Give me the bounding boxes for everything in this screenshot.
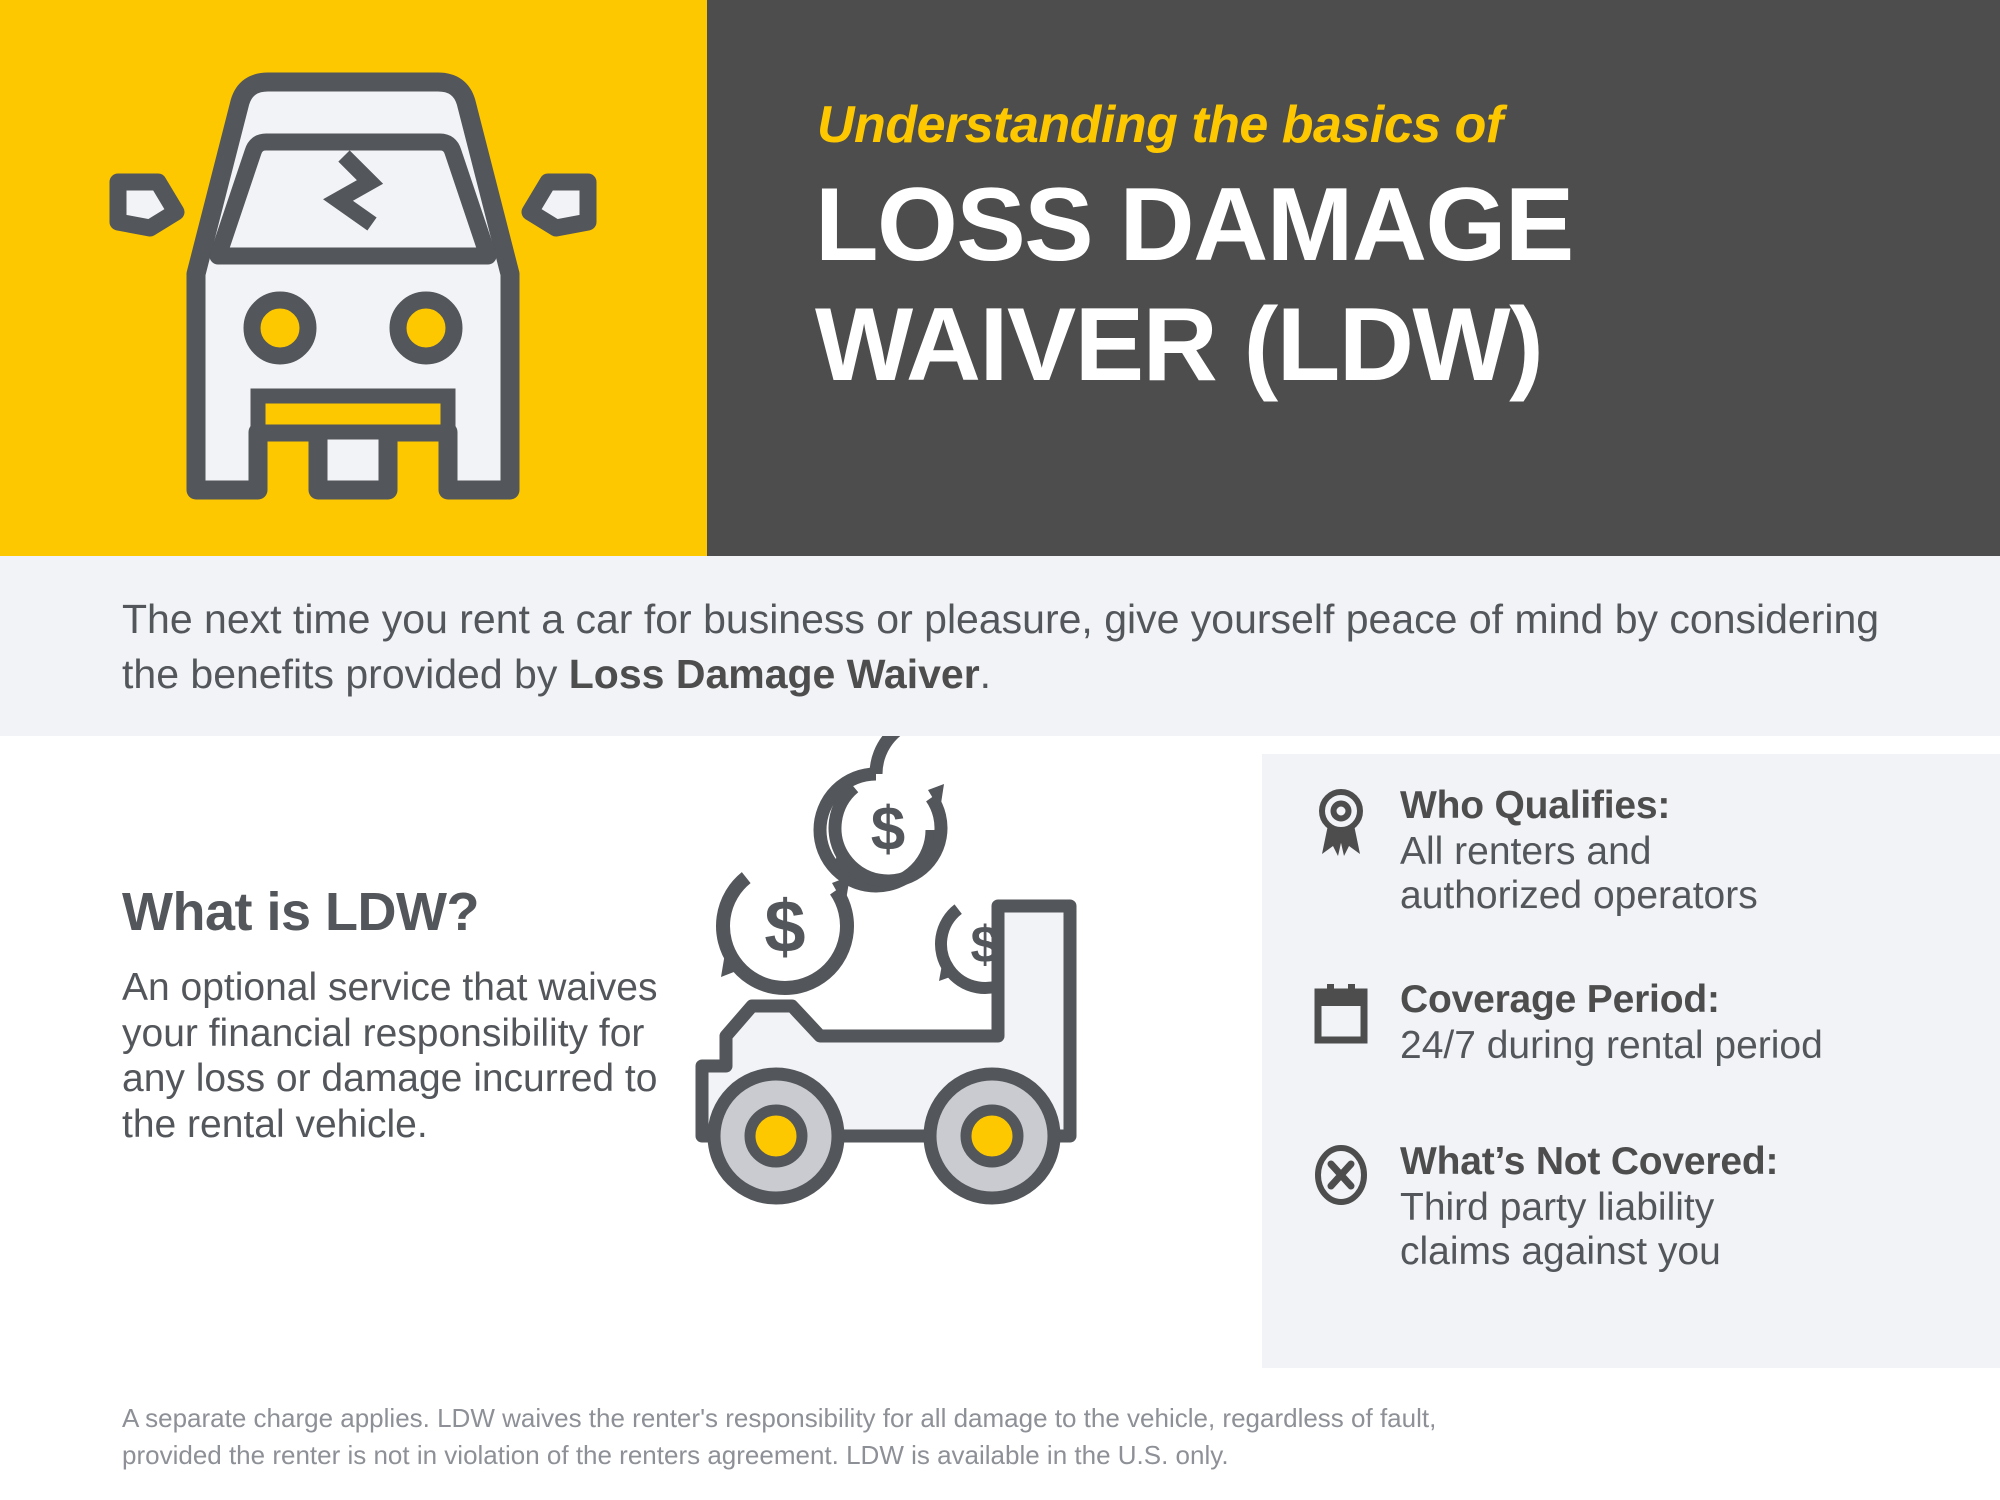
panel-item-label: What’s Not Covered:: [1400, 1138, 1974, 1186]
intro-paragraph: The next time you rent a car for busines…: [122, 592, 1912, 701]
svg-text:$: $: [871, 795, 905, 864]
panel-item-label: Who Qualifies:: [1400, 782, 1974, 830]
panel-item-text: Coverage Period: 24/7 during rental peri…: [1400, 976, 1974, 1068]
panel-item-value-line-2: claims against you: [1400, 1230, 1974, 1275]
what-is-ldw-block: What is LDW? An optional service that wa…: [122, 881, 682, 1148]
panel-item-not-covered: What’s Not Covered: Third party liabilit…: [1314, 1138, 1974, 1275]
disclaimer-line-1: A separate charge applies. LDW waives th…: [122, 1400, 1902, 1437]
x-circle-icon: [1314, 1138, 1400, 1211]
intro-band: The next time you rent a car for busines…: [0, 556, 2000, 736]
page-title-line-2: WAIVER (LDW): [815, 290, 1542, 400]
intro-bold-phrase: Loss Damage Waiver: [569, 651, 980, 697]
truck-illustration: $ $ $: [680, 736, 1270, 1376]
dollar-refresh-icon-1: $: [814, 754, 962, 902]
panel-item-value-line-2: authorized operators: [1400, 874, 1974, 919]
svg-text:$: $: [764, 885, 805, 968]
panel-item-value-line-1: Third party liability: [1400, 1186, 1974, 1231]
disclaimer: A separate charge applies. LDW waives th…: [122, 1400, 1902, 1474]
section-body: An optional service that waives your fin…: [122, 965, 682, 1148]
header-text-block: Understanding the basics of LOSS DAMAGE …: [707, 0, 2000, 556]
panel-item-value-line-1: 24/7 during rental period: [1400, 1024, 1974, 1069]
panel-item-text: Who Qualifies: All renters and authorize…: [1400, 782, 1974, 919]
main-content: What is LDW? An optional service that wa…: [0, 736, 2000, 1380]
section-heading: What is LDW?: [122, 881, 682, 943]
header-badge: [0, 0, 707, 556]
details-panel: Who Qualifies: All renters and authorize…: [1262, 754, 2000, 1368]
panel-item-label: Coverage Period:: [1400, 976, 1974, 1024]
footer: A separate charge applies. LDW waives th…: [0, 1380, 2000, 1500]
header-eyebrow: Understanding the basics of: [817, 95, 1503, 155]
panel-item-who-qualifies: Who Qualifies: All renters and authorize…: [1314, 782, 1974, 919]
page-title-line-1: LOSS DAMAGE: [815, 170, 1573, 280]
disclaimer-line-2: provided the renter is not in violation …: [122, 1437, 1902, 1474]
panel-item-text: What’s Not Covered: Third party liabilit…: [1400, 1138, 1974, 1275]
award-ribbon-icon: [1314, 782, 1400, 863]
intro-text-lead: The next time you rent a car for busines…: [122, 596, 1879, 697]
pickup-truck-with-money-cycle-icons: $ $ $: [680, 736, 1270, 1376]
panel-item-coverage-period: Coverage Period: 24/7 during rental peri…: [1314, 976, 1974, 1068]
header: Understanding the basics of LOSS DAMAGE …: [0, 0, 2000, 556]
intro-text-tail: .: [980, 651, 991, 697]
infographic-page: Understanding the basics of LOSS DAMAGE …: [0, 0, 2000, 1500]
panel-item-value-line-1: All renters and: [1400, 830, 1974, 875]
pickup-truck-icon: [702, 906, 1070, 1198]
calendar-icon: [1314, 976, 1400, 1049]
damaged-car-front-icon: [88, 60, 618, 500]
